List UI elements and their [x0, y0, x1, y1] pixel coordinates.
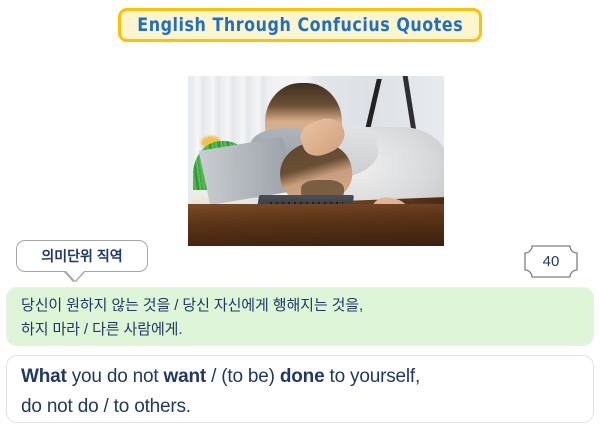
- page-number-badge: 40: [524, 245, 578, 278]
- english-plain-run: / (to be): [206, 366, 280, 387]
- speech-bubble-tail-icon: [66, 271, 84, 281]
- korean-translation-box: 당신이 원하지 않는 것을 / 당신 자신에게 행해지는 것을, 하지 마라 /…: [6, 287, 594, 346]
- lesson-title-plate: English Through Confucius Quotes: [118, 8, 482, 42]
- english-sentence-box: What you do not want / (to be) done to y…: [6, 355, 594, 423]
- photo-desk-front: [188, 204, 444, 247]
- english-plain-run: do not do / to others.: [21, 396, 191, 417]
- english-keyword: want: [164, 366, 206, 387]
- english-plain-run: you do not: [67, 366, 164, 387]
- english-keyword: done: [280, 366, 325, 387]
- english-plain-run: to yourself,: [324, 366, 420, 387]
- photo-illustration: [188, 76, 444, 246]
- english-sentence-text: What you do not want / (to be) done to y…: [21, 362, 581, 422]
- lesson-photo: [188, 76, 444, 246]
- translation-mode-label-text: 의미단위 직역: [41, 246, 122, 266]
- korean-translation-text: 당신이 원하지 않는 것을 / 당신 자신에게 행해지는 것을, 하지 마라 /…: [21, 294, 581, 342]
- translation-mode-label: 의미단위 직역: [16, 240, 148, 272]
- page-number-text: 40: [524, 245, 578, 278]
- english-keyword: What: [21, 366, 67, 387]
- lesson-title-text: English Through Confucius Quotes: [137, 14, 463, 36]
